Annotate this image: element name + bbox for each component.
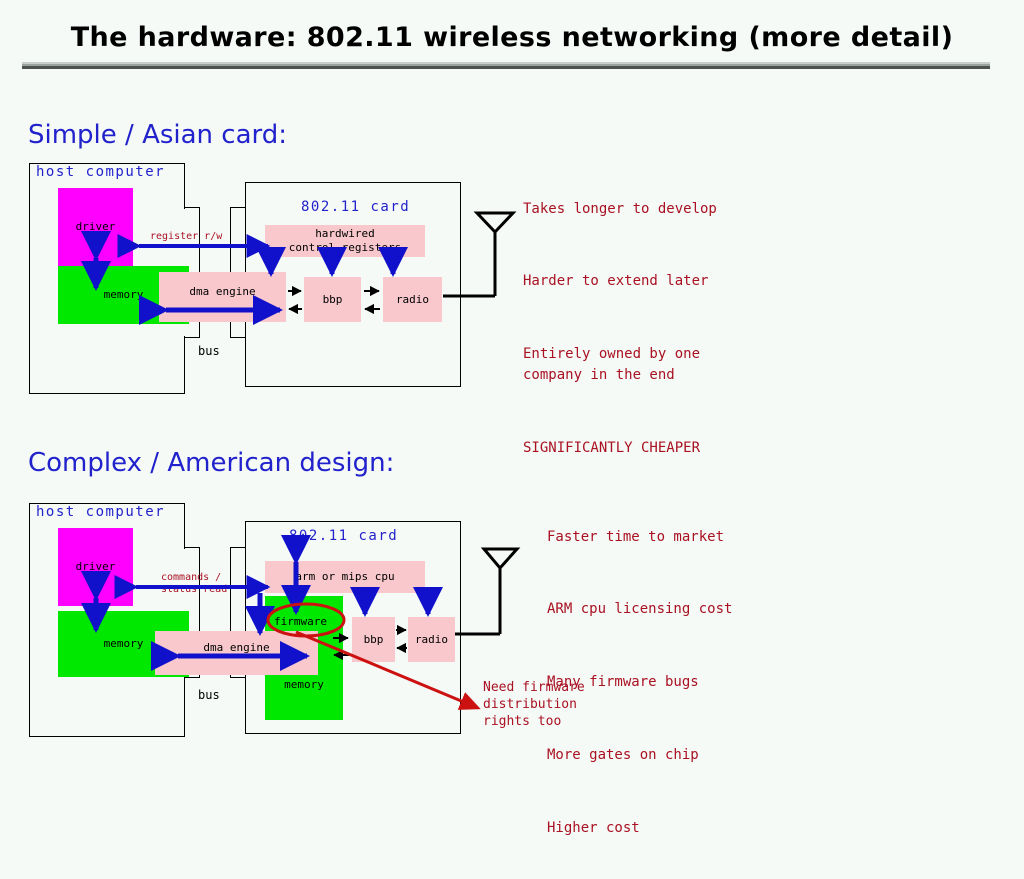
page-title: The hardware: 802.11 wireless networking…	[0, 22, 1024, 53]
bbp-box: bbp	[304, 277, 361, 322]
dma-engine-box-2: dma engine	[155, 631, 318, 675]
bbp-label-2: bbp	[364, 633, 384, 647]
radio-label-2: radio	[415, 633, 448, 647]
bullet-item: ARM cpu licensing cost	[547, 599, 732, 619]
card-label: 802.11 card	[301, 199, 410, 215]
bullet-item: Harder to extend later	[523, 271, 717, 291]
driver-box-label-2: driver	[76, 560, 116, 574]
firmware-rights-annotation: Need firmware distribution rights too	[483, 680, 585, 731]
card-label-2: 802.11 card	[289, 528, 398, 544]
card-memory-label: memory	[284, 678, 324, 692]
title-divider	[22, 62, 990, 69]
bullet-item: Faster time to market	[547, 527, 732, 547]
host-computer-label: host computer	[36, 164, 165, 180]
control-registers-box: hardwired control registers	[265, 225, 425, 257]
bullet-item: Takes longer to develop	[523, 199, 717, 219]
cpu-box: arm or mips cpu	[265, 561, 425, 593]
bus-label: bus	[198, 344, 220, 358]
bullet-item: SIGNIFICANTLY CHEAPER	[523, 438, 717, 458]
control-registers-label: hardwired control registers	[289, 227, 402, 255]
bbp-box-2: bbp	[352, 617, 395, 662]
dma-engine-label-2: dma engine	[203, 641, 269, 655]
firmware-label: firmware	[274, 615, 327, 628]
slide-canvas: The hardware: 802.11 wireless networking…	[0, 0, 1024, 768]
cpu-label: arm or mips cpu	[295, 570, 394, 584]
driver-box-label: driver	[76, 220, 116, 234]
register-rw-label: register r/w	[150, 231, 222, 243]
driver-box: driver	[58, 188, 133, 266]
host-computer-label-2: host computer	[36, 504, 165, 520]
dma-engine-label: dma engine	[189, 285, 255, 299]
bullet-item: Higher cost	[547, 818, 732, 838]
bullet-item: Entirely owned by one company in the end	[523, 344, 717, 385]
memory-box-label: memory	[104, 288, 144, 302]
driver-box-2: driver	[58, 528, 133, 606]
dma-engine-box: dma engine	[159, 272, 286, 322]
bullets-simple: Takes longer to develop Harder to extend…	[523, 158, 717, 498]
section-heading-complex: Complex / American design:	[28, 448, 394, 478]
commands-status-label: commands / status read	[161, 572, 227, 595]
bullet-item: More gates on chip	[547, 745, 732, 765]
section-heading-simple: Simple / Asian card:	[28, 120, 287, 150]
bus-label-2: bus	[198, 688, 220, 702]
memory-box-label-2: memory	[104, 637, 144, 651]
bbp-label: bbp	[323, 293, 343, 307]
radio-label: radio	[396, 293, 429, 307]
radio-box: radio	[383, 277, 442, 322]
radio-box-2: radio	[408, 617, 455, 662]
